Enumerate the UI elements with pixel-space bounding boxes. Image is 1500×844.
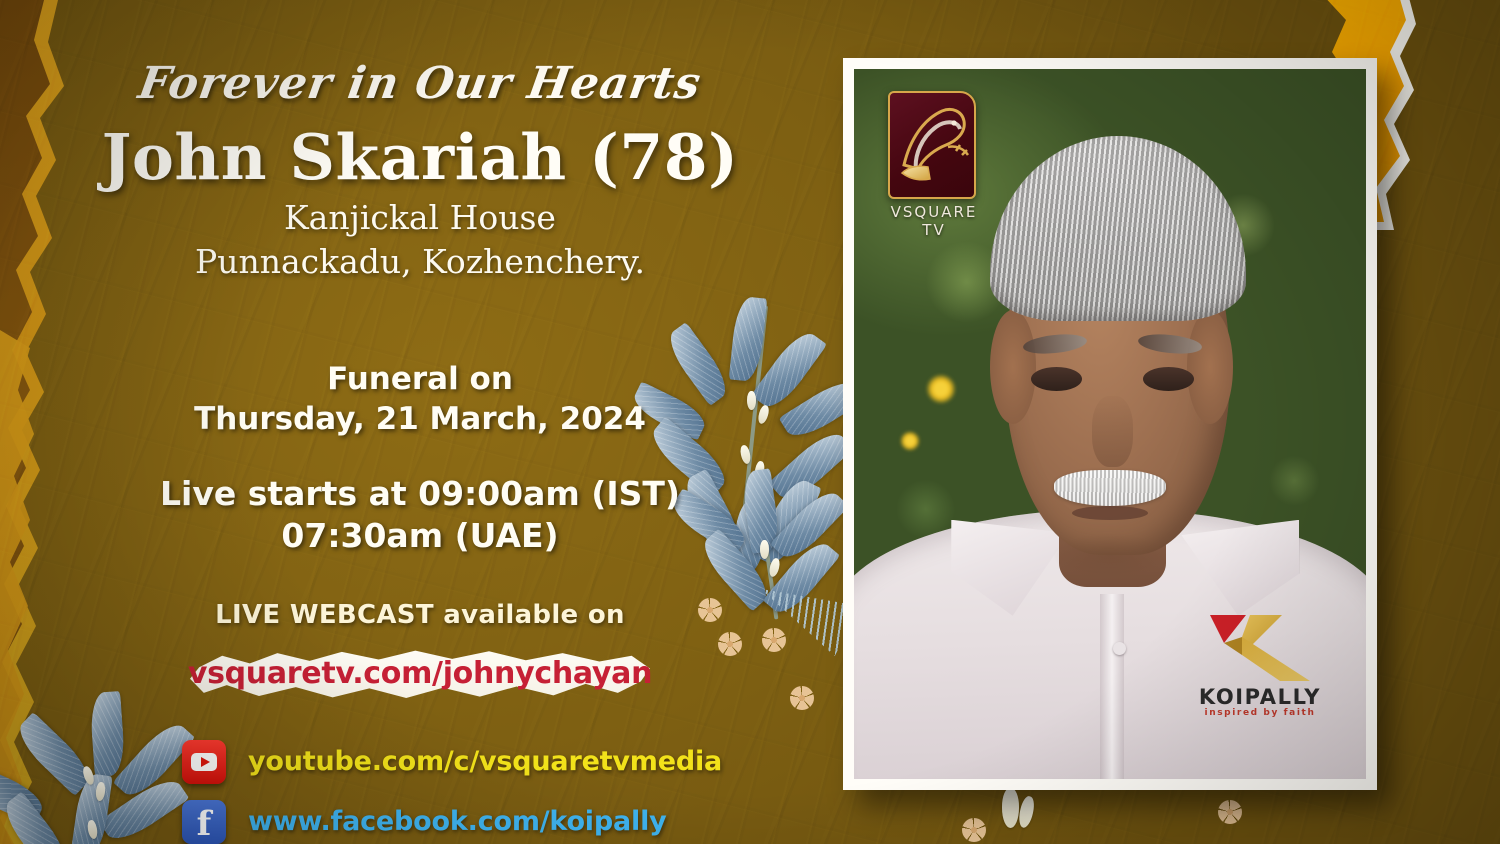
shirt-button bbox=[1113, 642, 1126, 655]
webcast-url-banner[interactable]: vsquaretv.com/johnychayan bbox=[190, 642, 650, 706]
nose bbox=[1092, 396, 1133, 467]
ear-left bbox=[990, 310, 1036, 424]
mouth bbox=[1072, 506, 1149, 520]
live-time-ist: Live starts at 09:00am (IST) bbox=[160, 473, 680, 515]
hair bbox=[990, 136, 1246, 321]
play-triangle-icon bbox=[191, 753, 217, 771]
shirt-placket bbox=[1100, 594, 1124, 779]
portrait-photo: VSQUARE TV bbox=[854, 69, 1366, 779]
koipally-k-mark-icon bbox=[1206, 613, 1312, 681]
vsquare-logo-card bbox=[888, 91, 976, 199]
webcast-url[interactable]: vsquaretv.com/johnychayan bbox=[188, 656, 652, 691]
facebook-f-glyph: f bbox=[197, 807, 212, 841]
announcement-text-column: Forever in Our Hearts John Skariah (78) … bbox=[0, 0, 840, 844]
vsquare-tv-logo: VSQUARE TV bbox=[880, 91, 988, 229]
koipally-logo: KOIPALLY inspired by faith bbox=[1184, 613, 1336, 725]
social-row-youtube[interactable]: youtube.com/c/vsquaretvmedia bbox=[160, 740, 680, 784]
koipally-brand-name: KOIPALLY bbox=[1184, 685, 1336, 709]
mustache bbox=[1054, 470, 1167, 506]
youtube-icon[interactable] bbox=[182, 740, 226, 784]
dove-with-olive-branch-icon bbox=[890, 93, 976, 199]
deceased-name: John Skariah (78) bbox=[102, 124, 739, 190]
vsquare-tv-label: VSQUARE TV bbox=[880, 203, 988, 239]
facebook-icon[interactable]: f bbox=[182, 800, 226, 844]
portrait-frame: VSQUARE TV bbox=[843, 58, 1377, 790]
facebook-url[interactable]: www.facebook.com/koipally bbox=[248, 806, 667, 837]
funeral-date: Thursday, 21 March, 2024 bbox=[194, 399, 646, 439]
social-links-list: youtube.com/c/vsquaretvmedia f www.faceb… bbox=[160, 724, 680, 844]
social-row-facebook[interactable]: f www.facebook.com/koipally bbox=[160, 800, 680, 844]
ear-right bbox=[1187, 310, 1233, 424]
bell-flower-accent bbox=[1017, 795, 1036, 829]
bell-flower-accent bbox=[1002, 788, 1019, 828]
blossom-accent bbox=[962, 818, 986, 842]
koipally-tagline: inspired by faith bbox=[1184, 708, 1336, 718]
tribute-line: Forever in Our Hearts bbox=[136, 62, 705, 106]
funeral-heading: Funeral on bbox=[194, 359, 646, 399]
live-time-uae: 07:30am (UAE) bbox=[160, 515, 680, 557]
memorial-poster: Forever in Our Hearts John Skariah (78) … bbox=[0, 0, 1500, 844]
blossom-accent bbox=[1218, 800, 1242, 824]
webcast-label: LIVE WEBCAST available on bbox=[215, 600, 625, 630]
house-name: Kanjickal House bbox=[195, 196, 645, 240]
chin-shadow bbox=[1054, 534, 1167, 577]
place-name: Punnackadu, Kozhenchery. bbox=[195, 240, 645, 284]
youtube-url[interactable]: youtube.com/c/vsquaretvmedia bbox=[248, 746, 722, 777]
